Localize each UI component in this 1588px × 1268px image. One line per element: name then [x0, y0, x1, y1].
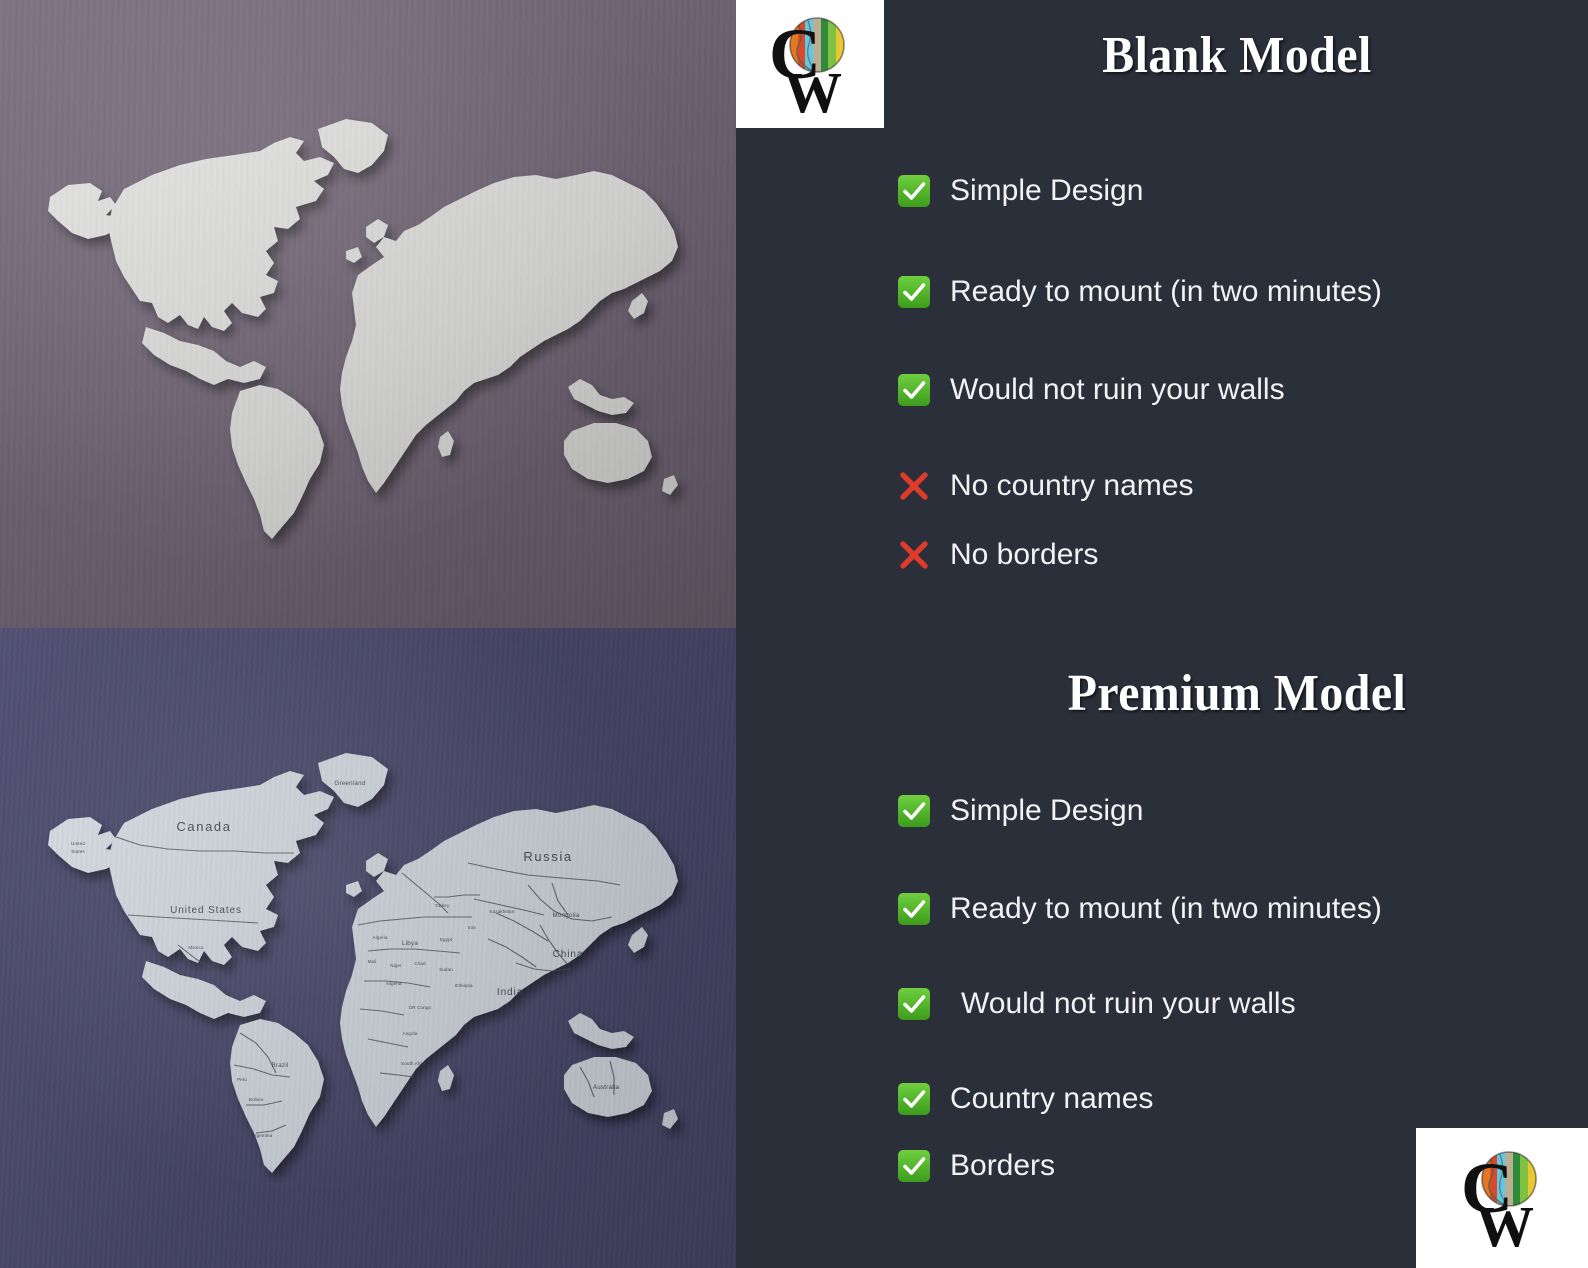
- svg-text:Mongolia: Mongolia: [552, 912, 579, 919]
- cross-icon: [894, 466, 934, 506]
- svg-text:Egypt: Egypt: [440, 937, 453, 942]
- feature-row: Ready to mount (in two minutes): [736, 861, 1588, 956]
- svg-text:Bolivia: Bolivia: [249, 1097, 264, 1102]
- svg-text:Niger: Niger: [390, 963, 402, 968]
- blank-model-photo: [0, 0, 736, 628]
- svg-text:Russia: Russia: [523, 849, 572, 864]
- feature-row: No borders: [736, 535, 1588, 575]
- svg-text:W: W: [784, 60, 842, 120]
- feature-label: Ready to mount (in two minutes): [950, 277, 1382, 307]
- svg-text:W: W: [1476, 1194, 1534, 1257]
- premium-world-map-svg: United States Canada Greenland United St…: [28, 713, 708, 1183]
- svg-text:United: United: [71, 841, 85, 846]
- section-title-premium-model: Premium Model: [914, 664, 1560, 723]
- feature-list-blank-model: Simple Design Ready to mount (in two min…: [736, 140, 1588, 575]
- blank-map-landmasses: [48, 119, 678, 539]
- brand-logo-bottom: C W: [1416, 1128, 1588, 1268]
- feature-label: No borders: [950, 540, 1098, 570]
- svg-text:Nigeria: Nigeria: [386, 981, 402, 986]
- comparison-infographic: United States Canada Greenland United St…: [0, 0, 1588, 1268]
- svg-text:Australia: Australia: [593, 1084, 620, 1091]
- feature-label: Would not ruin your walls: [950, 989, 1296, 1019]
- feature-row: Ready to mount (in two minutes): [736, 241, 1588, 342]
- feature-label: Ready to mount (in two minutes): [950, 894, 1382, 924]
- section-title-blank-model: Blank Model: [914, 26, 1560, 85]
- check-icon: [894, 171, 934, 211]
- cw-globe-logo-icon: C W: [751, 8, 869, 120]
- svg-text:Libya: Libya: [402, 940, 418, 947]
- product-photo-column: United States Canada Greenland United St…: [0, 0, 736, 1268]
- feature-row: Would not ruin your walls: [736, 342, 1588, 437]
- svg-text:South Africa: South Africa: [401, 1061, 427, 1066]
- svg-text:Iran: Iran: [468, 925, 477, 930]
- svg-text:China: China: [553, 949, 584, 960]
- check-icon: [894, 889, 934, 929]
- cross-icon: [894, 535, 934, 575]
- svg-text:Kazakhstan: Kazakhstan: [489, 909, 514, 914]
- check-icon: [894, 1079, 934, 1119]
- svg-text:United States: United States: [170, 905, 242, 916]
- blank-world-map-svg: [28, 79, 708, 549]
- check-icon: [894, 1146, 934, 1186]
- svg-text:Canada: Canada: [176, 819, 231, 834]
- feature-label: Country names: [950, 1084, 1153, 1114]
- features-panel: C W Blank Model Simple Design: [736, 0, 1588, 1268]
- svg-text:Chad: Chad: [414, 961, 426, 966]
- feature-label: Would not ruin your walls: [950, 375, 1285, 405]
- feature-label: No country names: [950, 471, 1193, 501]
- svg-text:States: States: [71, 849, 85, 854]
- svg-text:Mali: Mali: [368, 959, 377, 964]
- feature-row: Would not ruin your walls: [736, 956, 1588, 1051]
- svg-text:Greenland: Greenland: [334, 780, 365, 787]
- svg-text:Algeria: Algeria: [373, 935, 388, 940]
- svg-text:DR Congo: DR Congo: [409, 1005, 432, 1010]
- blank-map-graphic: [0, 0, 736, 628]
- svg-text:India: India: [497, 987, 523, 998]
- check-icon: [894, 370, 934, 410]
- premium-map-landmasses: [48, 753, 678, 1173]
- svg-text:Turkey: Turkey: [435, 903, 450, 908]
- svg-text:Peru: Peru: [237, 1077, 247, 1082]
- brand-logo-top: C W: [736, 0, 884, 128]
- feature-row: Simple Design: [736, 140, 1588, 241]
- feature-row: No country names: [736, 437, 1588, 535]
- svg-text:Argentina: Argentina: [252, 1133, 273, 1138]
- svg-text:Angola: Angola: [403, 1031, 418, 1036]
- feature-label: Simple Design: [950, 796, 1143, 826]
- svg-text:Ethiopia: Ethiopia: [455, 983, 473, 988]
- svg-text:Mexico: Mexico: [188, 945, 203, 950]
- premium-model-photo: United States Canada Greenland United St…: [0, 628, 736, 1268]
- check-icon: [894, 272, 934, 312]
- feature-list-premium-model: Simple Design Ready to mount (in two min…: [736, 760, 1588, 1186]
- cw-globe-logo-icon: C W: [1443, 1139, 1561, 1257]
- feature-label: Simple Design: [950, 176, 1143, 206]
- svg-text:Sudan: Sudan: [439, 967, 453, 972]
- check-icon: [894, 791, 934, 831]
- svg-text:Brazil: Brazil: [272, 1062, 289, 1069]
- feature-label: Borders: [950, 1151, 1055, 1181]
- premium-map-graphic: United States Canada Greenland United St…: [0, 628, 736, 1268]
- check-icon: [894, 984, 934, 1024]
- feature-row: Simple Design: [736, 760, 1588, 861]
